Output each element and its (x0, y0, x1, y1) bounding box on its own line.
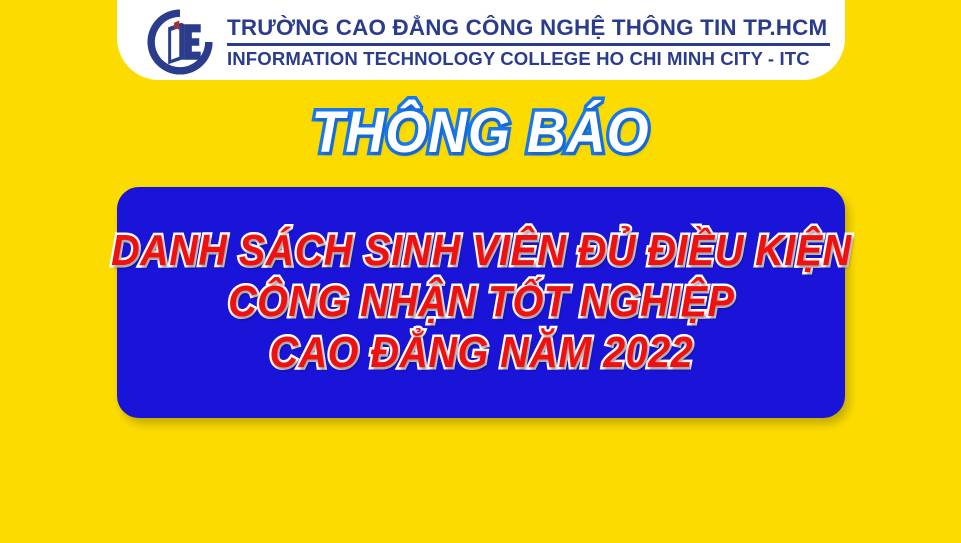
announcement-line-1: DANH SÁCH SINH VIÊN ĐỦ ĐIỀU KIỆN (111, 229, 851, 274)
college-name-vi: TRƯỜNG CAO ĐẲNG CÔNG NGHỆ THÔNG TIN TP.H… (227, 15, 827, 40)
header-text-block: TRƯỜNG CAO ĐẲNG CÔNG NGHỆ THÔNG TIN TP.H… (227, 15, 830, 70)
notice-title: THÔNG BÁO (34, 104, 928, 162)
poster-canvas: TRƯỜNG CAO ĐẲNG CÔNG NGHỆ THÔNG TIN TP.H… (0, 0, 961, 543)
announcement-line-3: CAO ĐẲNG NĂM 2022 (269, 331, 693, 376)
college-name-en: INFORMATION TECHNOLOGY COLLEGE HO CHI MI… (227, 49, 830, 70)
itc-circular-logo-icon (143, 5, 217, 79)
header-bar: TRƯỜNG CAO ĐẲNG CÔNG NGHỆ THÔNG TIN TP.H… (117, 0, 845, 80)
announcement-line-2: CÔNG NHẬN TỐT NGHIỆP (228, 280, 734, 325)
announcement-box: DANH SÁCH SINH VIÊN ĐỦ ĐIỀU KIỆN CÔNG NH… (117, 187, 845, 418)
header-divider (227, 43, 830, 46)
